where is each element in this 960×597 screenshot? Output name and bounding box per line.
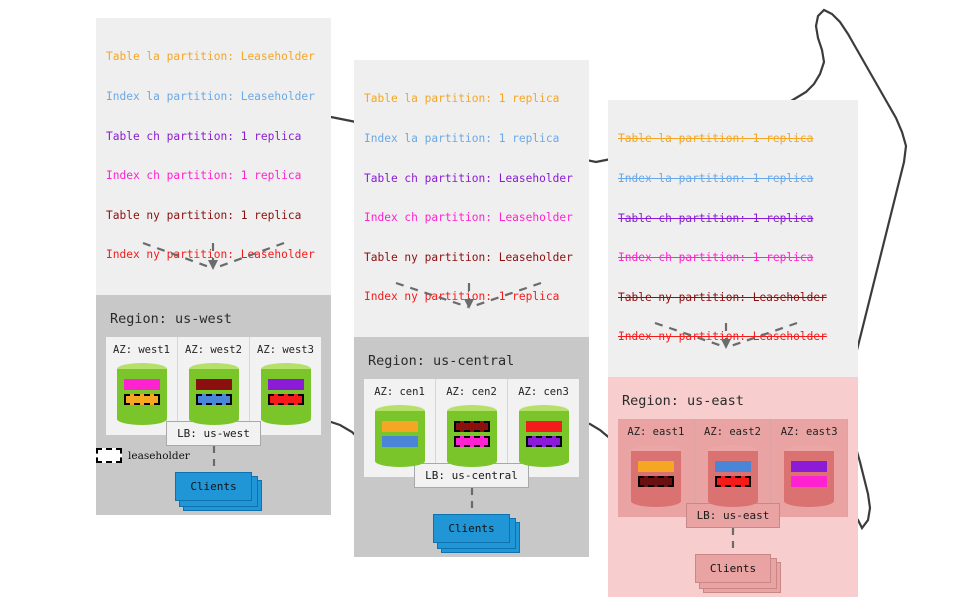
- region-block-us-west: Table la partition: Leaseholder Index la…: [96, 18, 331, 515]
- status-line: Index la partition: 1 replica: [364, 132, 579, 145]
- replica-bar: [196, 394, 232, 405]
- cylinder-bottom: [631, 495, 681, 507]
- node-cylinder-west2[interactable]: [189, 363, 239, 425]
- replica-bars: [631, 461, 681, 491]
- node-cylinder-cen1[interactable]: [375, 405, 425, 467]
- node-cylinder-west3[interactable]: [261, 363, 311, 425]
- clients-box[interactable]: Clients: [433, 514, 509, 543]
- az-label: AZ: cen2: [442, 386, 501, 398]
- clients-stack-us-east[interactable]: Clients: [695, 554, 771, 583]
- replica-bar: [454, 421, 490, 432]
- cylinder-bottom: [375, 455, 425, 467]
- az-cell-cen3[interactable]: AZ: cen3: [508, 379, 579, 477]
- replica-bar: [791, 461, 827, 472]
- node-cylinder-cen3[interactable]: [519, 405, 569, 467]
- status-panel-us-central: Table la partition: 1 replica Index la p…: [354, 60, 589, 337]
- replica-bar: [196, 379, 232, 390]
- leaseholder-legend-label: leaseholder: [128, 450, 190, 462]
- az-label: AZ: east1: [624, 426, 688, 438]
- status-line: Table ch partition: 1 replica: [618, 212, 848, 225]
- cylinder-bottom: [784, 495, 834, 507]
- status-line: Table ch partition: Leaseholder: [364, 172, 579, 185]
- az-cell-east1[interactable]: AZ: east1: [618, 419, 695, 517]
- dashed-rectangle-icon: [96, 448, 122, 463]
- status-line: Table la partition: Leaseholder: [106, 50, 321, 63]
- status-line: Index la partition: 1 replica: [618, 172, 848, 185]
- lb-to-clients-connector: [470, 488, 474, 514]
- az-label: AZ: west1: [112, 344, 171, 356]
- replica-bar: [124, 379, 160, 390]
- replica-bars: [784, 461, 834, 491]
- status-panel-us-east: Table la partition: 1 replica Index la p…: [608, 100, 858, 377]
- replica-bars: [519, 421, 569, 451]
- status-line: Index la partition: Leaseholder: [106, 90, 321, 103]
- leaseholder-legend: leaseholder: [96, 448, 190, 463]
- status-line: Index ny partition: Leaseholder: [106, 248, 321, 261]
- status-line: Table ny partition: Leaseholder: [618, 291, 848, 304]
- replica-bar: [268, 394, 304, 405]
- clients-box[interactable]: Clients: [695, 554, 771, 583]
- clients-stack-us-west[interactable]: Clients: [175, 472, 251, 501]
- cylinder-bottom: [519, 455, 569, 467]
- region-title: Region: us-west: [110, 311, 319, 327]
- region-body-us-east: Region: us-east AZ: east1 AZ: east2: [608, 377, 858, 597]
- az-row-us-central: AZ: cen1 AZ: cen2: [364, 379, 579, 477]
- replica-bars: [708, 461, 758, 491]
- replica-bar: [638, 476, 674, 487]
- replica-bars: [189, 379, 239, 409]
- replica-bar: [715, 461, 751, 472]
- status-line: Table ch partition: 1 replica: [106, 130, 321, 143]
- az-cell-west3[interactable]: AZ: west3: [250, 337, 321, 435]
- status-line: Index ny partition: Leaseholder: [618, 330, 848, 343]
- cylinder-bottom: [189, 413, 239, 425]
- status-line: Index ch partition: Leaseholder: [364, 211, 579, 224]
- replica-bars: [447, 421, 497, 451]
- status-line: Index ny partition: 1 replica: [364, 290, 579, 303]
- lb-to-clients-connector: [212, 446, 216, 472]
- replica-bar: [526, 436, 562, 447]
- clients-box[interactable]: Clients: [175, 472, 251, 501]
- replica-bar: [526, 421, 562, 432]
- replica-bar: [268, 379, 304, 390]
- az-cell-east3[interactable]: AZ: east3: [771, 419, 848, 517]
- replica-bars: [261, 379, 311, 409]
- az-label: AZ: east3: [777, 426, 841, 438]
- region-title: Region: us-east: [622, 393, 846, 409]
- az-label: AZ: east2: [701, 426, 765, 438]
- region-block-us-east: Table la partition: 1 replica Index la p…: [608, 100, 858, 597]
- az-row-us-west: AZ: west1 AZ: west2: [106, 337, 321, 435]
- replica-bar: [791, 476, 827, 487]
- node-cylinder-east2[interactable]: [708, 445, 758, 507]
- replica-bars: [375, 421, 425, 451]
- status-line: Table la partition: 1 replica: [364, 92, 579, 105]
- replica-bar: [382, 421, 418, 432]
- cylinder-bottom: [447, 455, 497, 467]
- az-label: AZ: cen3: [514, 386, 573, 398]
- status-panel-us-west: Table la partition: Leaseholder Index la…: [96, 18, 331, 295]
- node-cylinder-west1[interactable]: [117, 363, 167, 425]
- node-cylinder-cen2[interactable]: [447, 405, 497, 467]
- replica-bar: [715, 476, 751, 487]
- region-title: Region: us-central: [368, 353, 577, 369]
- status-line: Index ch partition: 1 replica: [106, 169, 321, 182]
- region-body-us-central: Region: us-central AZ: cen1 AZ: cen2: [354, 337, 589, 557]
- clients-stack-us-central[interactable]: Clients: [433, 514, 509, 543]
- replica-bar: [454, 436, 490, 447]
- lb-to-clients-connector: [731, 528, 735, 554]
- cylinder-bottom: [708, 495, 758, 507]
- cylinder-bottom: [261, 413, 311, 425]
- status-line: Index ch partition: 1 replica: [618, 251, 848, 264]
- replica-bar: [382, 436, 418, 447]
- az-label: AZ: cen1: [370, 386, 429, 398]
- node-cylinder-east1[interactable]: [631, 445, 681, 507]
- node-cylinder-east3[interactable]: [784, 445, 834, 507]
- replica-bars: [117, 379, 167, 409]
- status-line: Table la partition: 1 replica: [618, 132, 848, 145]
- status-line: Table ny partition: Leaseholder: [364, 251, 579, 264]
- region-body-us-west: Region: us-west AZ: west1 AZ: west2: [96, 295, 331, 515]
- az-label: AZ: west3: [256, 344, 315, 356]
- az-row-us-east: AZ: east1 AZ: east2: [618, 419, 848, 517]
- cylinder-bottom: [117, 413, 167, 425]
- region-block-us-central: Table la partition: 1 replica Index la p…: [354, 60, 589, 557]
- replica-bar: [638, 461, 674, 472]
- replica-bar: [124, 394, 160, 405]
- az-label: AZ: west2: [184, 344, 243, 356]
- status-line: Table ny partition: 1 replica: [106, 209, 321, 222]
